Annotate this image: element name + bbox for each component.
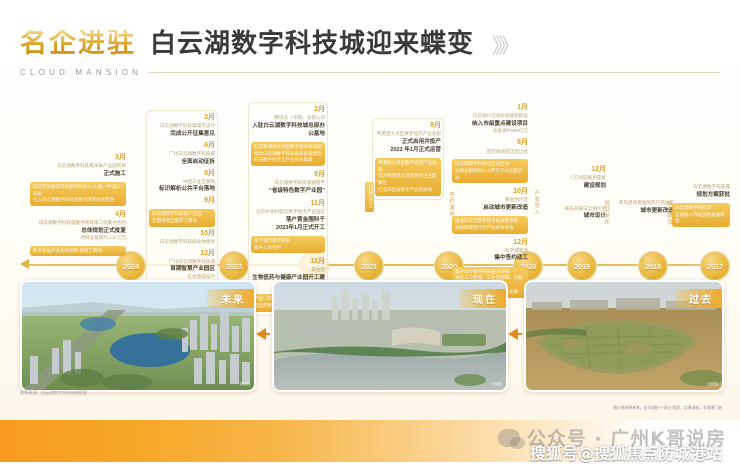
- timeline-event[interactable]: 12月 科学城集团 集中签约动工: [452, 239, 528, 263]
- timeline-vtag-4: 启动建设: [665, 200, 672, 226]
- timeline-event[interactable]: 10月 黄金围片区 启动城市更新改造: [452, 188, 528, 212]
- timeline-event[interactable]: 9月: [149, 197, 215, 205]
- timeline-year-2018[interactable]: 2018: [638, 251, 668, 281]
- timeline-column-2021: 9月 粤港澳大湾区数字经济产业总部 正式启用并投产 2022 年1月正式运营 粤…: [372, 118, 444, 200]
- timeline-vtag-3: 规划发布: [602, 200, 609, 226]
- timeline-vtag-2: 产业导入: [532, 190, 539, 216]
- wechat-icon: [498, 429, 520, 447]
- timeline-event-chip[interactable]: 粤港澳大湾区数字经济产业总部 成为粤港澳大湾区重点企业集聚区 打造湾区级数字产业…: [375, 158, 441, 196]
- photo-caption-future: 效果来源：白云湖数字科技城规划图: [20, 390, 252, 396]
- arrow-left-icon-1: [256, 328, 266, 340]
- timeline-event-chip[interactable]: 白云湖数字科技城正式启动 总规划面积约21.9平方千米全面启动: [452, 159, 528, 183]
- timeline-event[interactable]: 3月 白云湖数字科技城未来产业园项目 正式施工: [30, 154, 126, 178]
- timeline-event[interactable]: 12月 八方州园规划获批 建设规划: [540, 166, 606, 190]
- timeline: 2024 2023 2022 2021 2020 2020 2019 2018 …: [0, 96, 740, 276]
- timeline-event[interactable]: 9月 白云湖数字科技城被授予 “省级特色数字产业园”: [251, 171, 325, 195]
- timeline-event-chip[interactable]: 打造粤港澳大湾区数字经济新高地 推动白云湖数字科技城高质量建设 形成数字经济全产…: [251, 142, 325, 166]
- timeline-year-2021[interactable]: 2021: [354, 251, 384, 281]
- photo-caption-past: 图片来源供参考，仅为描绘“十四五”规划，实景请核，本效果门参: [613, 406, 722, 411]
- timeline-vtag-0: 正式开工: [365, 182, 374, 212]
- timeline-event[interactable]: 6月 广州白云湖数字科技城 全面启动征拆: [149, 142, 215, 166]
- timeline-event[interactable]: 8月 首宗地块成功出让给: [452, 139, 528, 155]
- timeline-vtag-1: 签约落地: [447, 192, 454, 218]
- header-divider: [148, 72, 720, 73]
- header-gold-title: 名企进驻: [20, 30, 136, 57]
- poster-page: 名企进驻 白云湖数字科技城迎来蝶变 》》 CLOUD MANSION 2024 …: [0, 0, 740, 462]
- header-subtitle-row: CLOUD MANSION: [20, 68, 720, 77]
- photo-past[interactable]: 过去 旧貌图: [524, 280, 724, 392]
- sohu-watermark-label: 搜狐号@搜狐焦点防城港站: [530, 440, 722, 464]
- timeline-event-chip[interactable]: 白云湖数字科技城 正式纳入市级战略发展规划: [672, 203, 730, 227]
- timeline-event-chip[interactable]: 白云湖数字科技城产业园 首期项目全面开工建设: [149, 209, 215, 227]
- photo-credit: 实景图: [491, 382, 502, 387]
- timeline-event[interactable]: 3月 白云湖数字科技城城市设计 完成公开征集意见: [149, 114, 215, 138]
- photo-present[interactable]: 现在 实景图: [272, 280, 508, 392]
- timeline-event[interactable]: 11月 北京中关村智造数字经济产业园区 落户黄金围科千 2023年1月正式开工: [251, 200, 325, 232]
- photo-row: 未来 效果图 效果来源：白云湖数字科技城规划图: [0, 280, 740, 405]
- timeline-event[interactable]: 2月 腾讯云（华南）总部公司 入驻白云湖数字科技城总部办公基地: [251, 106, 325, 138]
- timeline-event-chip[interactable]: 多个省市重点项目 集中入驻签约: [251, 236, 325, 254]
- timeline-column-2024: 3月 白云湖数字科技城未来产业园项目 正式施工 白云区首批城市更新项目进入“七通…: [30, 154, 126, 256]
- timeline-column-2020: 1月 白云湖片区高标准规划建设 纳入市级重点建设项目 总投资约680亿元 8月 …: [452, 104, 528, 298]
- timeline-year-2019[interactable]: 2019: [567, 251, 597, 281]
- photo-tag-present: 现在: [459, 289, 506, 308]
- timeline-event[interactable]: 白云湖数字科技城 规划方案获批: [672, 184, 730, 199]
- timeline-year-2017[interactable]: 2017: [700, 251, 730, 281]
- timeline-year-2023[interactable]: 2023: [219, 251, 249, 281]
- photo-credit: 旧貌图: [707, 382, 718, 387]
- timeline-event-chip[interactable]: 推动白云区数字经济高质量发展 加快构建现代化产业体系进程: [452, 216, 528, 234]
- header-subtitle-en: CLOUD MANSION: [20, 68, 142, 77]
- timeline-event-chip[interactable]: 白云区首批城市更新项目进入“七通一平”施工阶段 引入白云湖数字科技城重点项目加速…: [30, 182, 126, 206]
- photo-credit: 效果图: [239, 382, 250, 387]
- timeline-column-2019: 12月 八方州园规划获批 建设规划 率先开展白云湖片区 城市设计: [540, 166, 606, 225]
- timeline-event[interactable]: 4月 白云湖数字科技城重点项目第二批集中签约 总体规划正式批复 项目总投资约 4…: [30, 211, 126, 241]
- timeline-event[interactable]: 8月 中国工业互联网 标识解析公共平台落地: [149, 170, 215, 194]
- timeline-arrow-icon: [20, 259, 29, 269]
- timeline-column-2023: 3月 白云湖数字科技城城市设计 完成公开征集意见 6月 广州白云湖数字科技城 全…: [146, 110, 218, 301]
- arrow-left-icon-2: [508, 328, 518, 340]
- photo-future[interactable]: 未来 效果图: [20, 280, 256, 392]
- header-title-row: 名企进驻 白云湖数字科技城迎来蝶变 》》: [20, 30, 720, 57]
- chevron-right-icon: 》》: [492, 36, 516, 57]
- poster-header: 名企进驻 白云湖数字科技城迎来蝶变 》》 CLOUD MANSION: [20, 30, 720, 92]
- timeline-event[interactable]: 9月 粤港澳大湾区数字经济产业总部 正式启用并投产 2022 年1月正式运营: [375, 122, 441, 154]
- timeline-event[interactable]: 率先开展白云湖片区 城市设计: [540, 206, 606, 221]
- photo-tag-past: 过去: [675, 289, 722, 308]
- timeline-column-2017: 白云湖数字科技城 规划方案获批 白云湖数字科技城 正式纳入市级战略发展规划: [672, 184, 730, 227]
- page-title: 白云湖数字科技城迎来蝶变: [150, 31, 474, 57]
- timeline-event[interactable]: 1月 白云湖片区高标准规划建设 纳入市级重点建设项目 总投资约680亿元: [452, 104, 528, 134]
- timeline-event[interactable]: 10月 白云湖数字科技城总体规划: [149, 230, 215, 246]
- photo-tag-future: 未来: [207, 289, 254, 308]
- timeline-event-chip[interactable]: 数字科技产业总部项目 加速了落地: [30, 246, 126, 257]
